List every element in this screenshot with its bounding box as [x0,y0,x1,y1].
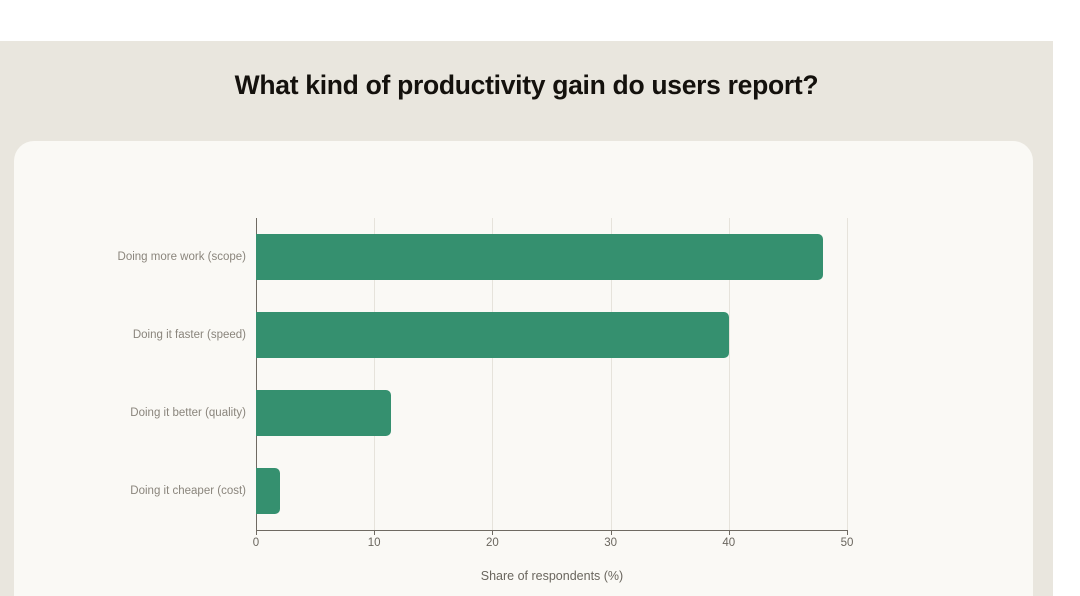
bar [256,312,729,358]
x-axis-tick [611,530,612,535]
bar [256,234,823,280]
y-axis-category-label: Doing it cheaper (cost) [14,485,246,497]
x-axis-tick-label: 10 [368,537,381,549]
x-axis-tick [256,530,257,535]
x-axis-tick-label: 0 [253,537,259,549]
bar-chart-plot: 01020304050Doing more work (scope)Doing … [14,141,1033,596]
page-title: What kind of productivity gain do users … [0,70,1053,101]
slide-canvas: What kind of productivity gain do users … [0,0,1080,596]
x-axis-line [256,530,848,531]
bar [256,390,391,436]
x-axis-tick [729,530,730,535]
bar [256,468,280,514]
x-axis-tick-label: 40 [722,537,735,549]
gridline-x [847,218,848,530]
y-axis-category-label: Doing it faster (speed) [14,329,246,341]
y-axis-category-label: Doing more work (scope) [14,251,246,263]
x-axis-tick [847,530,848,535]
y-axis-category-label: Doing it better (quality) [14,407,246,419]
x-axis-tick-label: 50 [841,537,854,549]
x-axis-tick-label: 30 [604,537,617,549]
x-axis-title: Share of respondents (%) [256,569,848,583]
x-axis-tick [492,530,493,535]
chart-card: 01020304050Doing more work (scope)Doing … [14,141,1033,596]
x-axis-tick [374,530,375,535]
x-axis-tick-label: 20 [486,537,499,549]
